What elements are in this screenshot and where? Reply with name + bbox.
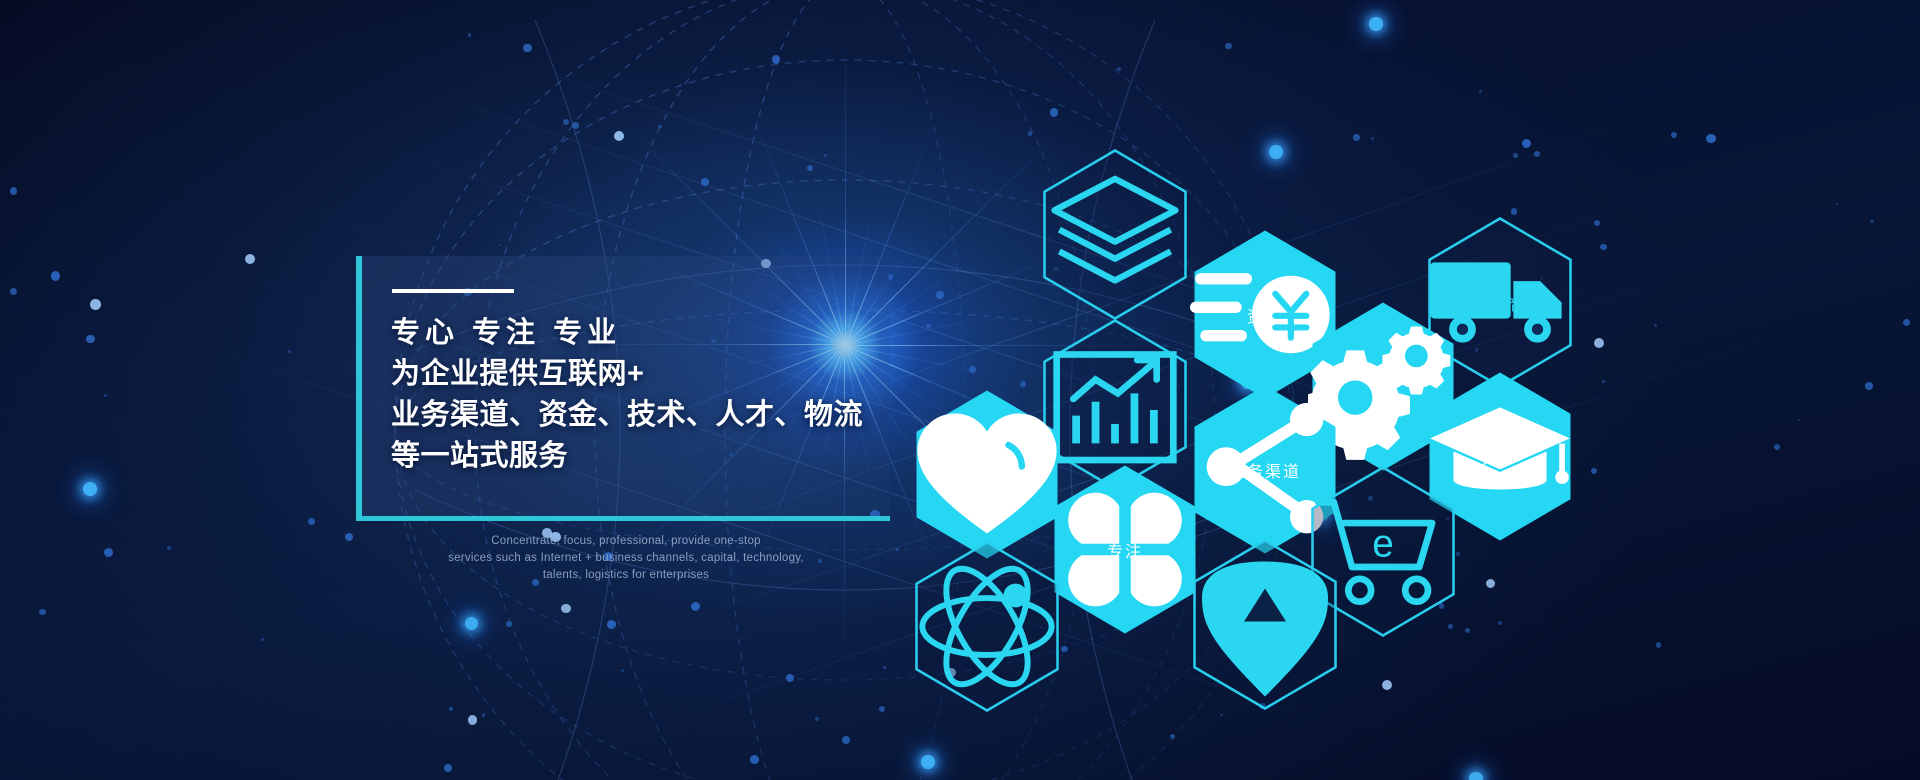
hex-atom[interactable] [912,540,1062,713]
particle-dot [1220,714,1223,717]
particle-dot [921,755,935,769]
particle-dot [1511,208,1518,215]
banner-stage: 专心 专注 专业 为企业提供互联网+ 业务渠道、资金、技术、人才、物流 等一站式… [0,0,1920,780]
particle-dot [308,518,315,525]
particle-dot [572,122,579,129]
particle-dot [1870,220,1874,224]
particle-dot [1465,628,1470,633]
particle-dot [1798,419,1800,421]
hex-pro[interactable]: 专业 [1190,538,1340,711]
particle-dot [1836,203,1839,206]
headline-line-4: 等一站式服务 [391,436,891,477]
particle-dot [1498,621,1502,625]
particle-dot [10,288,17,295]
particle-dot [1269,145,1283,159]
particle-dot [701,178,709,186]
particle-dot [1774,444,1780,450]
particle-dot [614,131,624,141]
particle-dot [1061,646,1068,653]
particle-dot [621,669,624,672]
particle-dot [750,755,759,764]
headline-panel: 专心 专注 专业 为企业提供互联网+ 业务渠道、资金、技术、人才、物流 等一站式… [356,256,890,521]
particle-dot [104,548,113,557]
particle-dot [1371,137,1374,140]
particle-dot [345,533,353,541]
particle-dot [786,674,794,682]
particle-dot [969,366,976,373]
particle-dot [83,482,97,496]
headline-line-3: 业务渠道、资金、技术、人才、物流 [391,395,891,436]
particle-dot [1170,734,1176,740]
headline-text: 专心 专注 专业 为企业提供互联网+ 业务渠道、资金、技术、人才、物流 等一站式… [391,313,891,477]
particle-dot [499,244,501,246]
particle-dot [607,620,616,629]
particle-dot [1594,220,1600,226]
particle-dot [658,125,662,129]
particle-dot [1534,151,1540,157]
particle-dot [1020,381,1026,387]
subtitle-line-1: Concentrate, focus, professional, provid… [356,533,896,550]
particle-dot [90,299,100,309]
subtitle-line-3: talents, logistics for enterprises [356,567,896,584]
particle-dot [1656,642,1661,647]
particle-dot [1028,131,1033,136]
particle-dot [879,706,885,712]
particle-dot [926,324,930,328]
particle-dot [1353,134,1360,141]
particle-dot [449,707,454,712]
hex-layers[interactable] [1040,148,1190,321]
particle-dot [1706,134,1715,143]
particle-dot [1369,17,1383,31]
particle-dot [1522,139,1531,148]
particle-dot [167,546,171,550]
particle-dot [1050,108,1058,116]
particle-dot [468,715,478,725]
particle-dot [1591,468,1597,474]
particle-dot [1602,380,1606,384]
particle-dot [104,394,107,397]
particle-dot [561,604,571,614]
particle-dot [10,187,17,194]
particle-dot [1469,772,1483,780]
particle-dot [468,33,472,37]
hex-heart[interactable]: 专心 [912,388,1062,561]
particle-dot [1671,132,1677,138]
headline-line-1: 专心 专注 专业 [391,313,891,354]
particle-dot [444,764,452,772]
particle-dot [896,548,900,552]
particle-dot [807,165,813,171]
hex-focus[interactable]: 专注 [1050,463,1200,636]
subtitle-line-2: services such as Internet + business cha… [356,550,896,567]
particle-dot [1654,324,1657,327]
particle-dot [261,638,264,641]
particle-dot [39,609,46,616]
particle-dot [936,291,944,299]
particle-dot [691,602,700,611]
particle-dot [523,44,532,53]
particle-dot [1486,579,1496,589]
particle-dot [883,666,886,669]
particle-dot [1903,319,1910,326]
particle-dot [815,717,819,721]
subtitle-text: Concentrate, focus, professional, provid… [356,533,896,584]
particle-dot [1865,382,1873,390]
particle-dot [1513,153,1518,158]
particle-dot [1479,90,1482,93]
svg-text:e: e [1372,523,1394,566]
particle-dot [563,119,569,125]
particle-dot [506,621,512,627]
particle-dot [482,713,486,717]
particle-dot [1117,67,1121,71]
particle-dot [245,254,255,264]
particle-dot [772,55,780,63]
particle-dot [465,617,479,631]
particle-dot [86,335,95,344]
particle-dot [1600,244,1607,251]
title-rule [392,289,514,293]
particle-dot [824,154,827,157]
particle-dot [1225,43,1232,50]
particle-dot [288,350,291,353]
headline-line-2: 为企业提供互联网+ [391,354,891,395]
particle-dot [51,271,60,280]
particle-dot [1382,680,1392,690]
particle-dot [1594,338,1604,348]
particle-dot [842,736,850,744]
